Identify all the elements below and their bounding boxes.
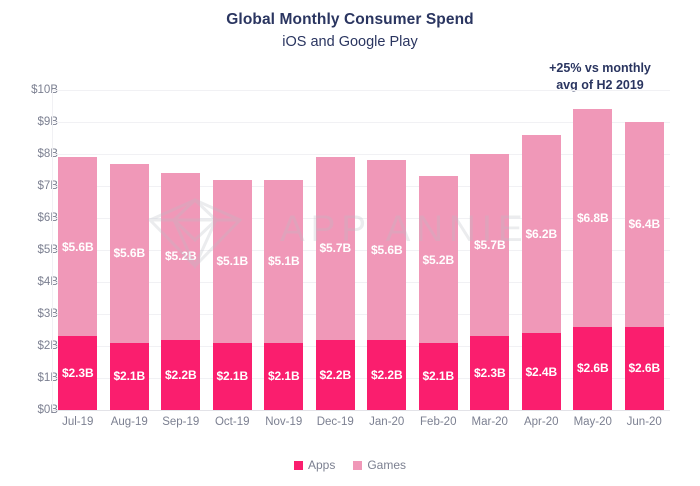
bar-group[interactable]: $2.1B$5.2B (419, 176, 458, 410)
bar-value-label: $5.6B (113, 246, 145, 260)
bar-value-label: $6.4B (628, 217, 660, 231)
bar-segment-apps[interactable]: $2.2B (367, 340, 406, 410)
y-axis-tick-label: $1B (10, 372, 58, 384)
bar-segment-games[interactable]: $5.6B (367, 160, 406, 339)
bar-segment-games[interactable]: $5.1B (213, 180, 252, 343)
y-axis-tick-label: $9B (10, 116, 58, 128)
annotation-line-1: +25% vs monthly (508, 60, 692, 77)
y-axis-tick-label: $0B (10, 404, 58, 416)
legend: AppsGames (0, 458, 700, 472)
y-axis-tick-label: $3B (10, 308, 58, 320)
bar-segment-apps[interactable]: $2.4B (522, 333, 561, 410)
bar-segment-games[interactable]: $5.2B (161, 173, 200, 339)
bar-group[interactable]: $2.1B$5.6B (110, 164, 149, 410)
growth-annotation: +25% vs monthly avg of H2 2019 (508, 60, 692, 94)
gridline (52, 90, 670, 91)
chart-header: Global Monthly Consumer Spend iOS and Go… (0, 10, 700, 52)
chart-container: Global Monthly Consumer Spend iOS and Go… (0, 0, 700, 486)
y-axis-tick-label: $2B (10, 340, 58, 352)
bar-segment-apps[interactable]: $2.1B (264, 343, 303, 410)
bar-value-label: $5.2B (422, 253, 454, 267)
bar-segment-apps[interactable]: $2.2B (161, 340, 200, 410)
bar-value-label: $6.8B (577, 211, 609, 225)
bar-value-label: $5.2B (165, 249, 197, 263)
bar-value-label: $2.6B (628, 361, 660, 375)
bar-segment-apps[interactable]: $2.6B (573, 327, 612, 410)
bar-value-label: $2.3B (62, 366, 94, 380)
bar-segment-games[interactable]: $6.2B (522, 135, 561, 333)
bar-segment-games[interactable]: $5.7B (316, 157, 355, 339)
bar-segment-apps[interactable]: $2.1B (419, 343, 458, 410)
y-axis-line (52, 90, 53, 410)
page-title: Global Monthly Consumer Spend (0, 10, 700, 30)
bar-value-label: $6.2B (525, 227, 557, 241)
bar-segment-games[interactable]: $6.8B (573, 109, 612, 327)
bar-value-label: $2.2B (319, 368, 351, 382)
legend-item[interactable]: Games (353, 458, 406, 472)
bar-group[interactable]: $2.3B$5.7B (470, 154, 509, 410)
y-axis-tick-label: $7B (10, 180, 58, 192)
legend-swatch (353, 461, 362, 470)
x-axis-baseline (52, 410, 670, 411)
bar-value-label: $5.1B (216, 254, 248, 268)
bar-value-label: $2.1B (113, 369, 145, 383)
bar-group[interactable]: $2.6B$6.8B (573, 109, 612, 410)
bar-segment-games[interactable]: $5.1B (264, 180, 303, 343)
bar-value-label: $2.3B (474, 366, 506, 380)
bar-value-label: $5.7B (319, 241, 351, 255)
bar-value-label: $2.4B (525, 365, 557, 379)
bar-segment-apps[interactable]: $2.1B (110, 343, 149, 410)
bar-segment-games[interactable]: $5.6B (110, 164, 149, 343)
bar-value-label: $5.6B (371, 243, 403, 257)
legend-label: Games (367, 458, 406, 472)
bar-value-label: $5.6B (62, 240, 94, 254)
bar-value-label: $2.6B (577, 361, 609, 375)
y-axis-tick-label: $5B (10, 244, 58, 256)
chart-subtitle: iOS and Google Play (0, 32, 700, 52)
legend-item[interactable]: Apps (294, 458, 335, 472)
bar-segment-games[interactable]: $5.2B (419, 176, 458, 342)
bar-group[interactable]: $2.1B$5.1B (213, 180, 252, 410)
y-axis-tick-label: $4B (10, 276, 58, 288)
legend-swatch (294, 461, 303, 470)
bar-value-label: $2.1B (216, 369, 248, 383)
y-axis-tick-label: $8B (10, 148, 58, 160)
x-axis-tick-label: Jun-20 (614, 416, 674, 428)
bar-value-label: $2.1B (268, 369, 300, 383)
y-axis-tick-label: $6B (10, 212, 58, 224)
bar-value-label: $2.2B (371, 368, 403, 382)
bar-value-label: $5.1B (268, 254, 300, 268)
bar-value-label: $2.2B (165, 368, 197, 382)
bar-group[interactable]: $2.2B$5.2B (161, 173, 200, 410)
bar-segment-apps[interactable]: $2.3B (58, 336, 97, 410)
bar-segment-apps[interactable]: $2.1B (213, 343, 252, 410)
bar-group[interactable]: $2.2B$5.6B (367, 160, 406, 410)
plot-area: $2.3B$5.6B$2.1B$5.6B$2.2B$5.2B$2.1B$5.1B… (52, 90, 670, 410)
bar-group[interactable]: $2.4B$6.2B (522, 135, 561, 410)
bar-group[interactable]: $2.2B$5.7B (316, 157, 355, 410)
bar-value-label: $2.1B (422, 369, 454, 383)
bar-value-label: $5.7B (474, 238, 506, 252)
bar-segment-apps[interactable]: $2.6B (625, 327, 664, 410)
bar-group[interactable]: $2.3B$5.6B (58, 157, 97, 410)
bar-segment-games[interactable]: $5.6B (58, 157, 97, 336)
bar-segment-games[interactable]: $6.4B (625, 122, 664, 327)
bar-segment-apps[interactable]: $2.3B (470, 336, 509, 410)
bar-group[interactable]: $2.6B$6.4B (625, 122, 664, 410)
bar-segment-apps[interactable]: $2.2B (316, 340, 355, 410)
y-axis-tick-label: $10B (10, 84, 58, 96)
bar-segment-games[interactable]: $5.7B (470, 154, 509, 336)
legend-label: Apps (308, 458, 335, 472)
bar-group[interactable]: $2.1B$5.1B (264, 180, 303, 410)
